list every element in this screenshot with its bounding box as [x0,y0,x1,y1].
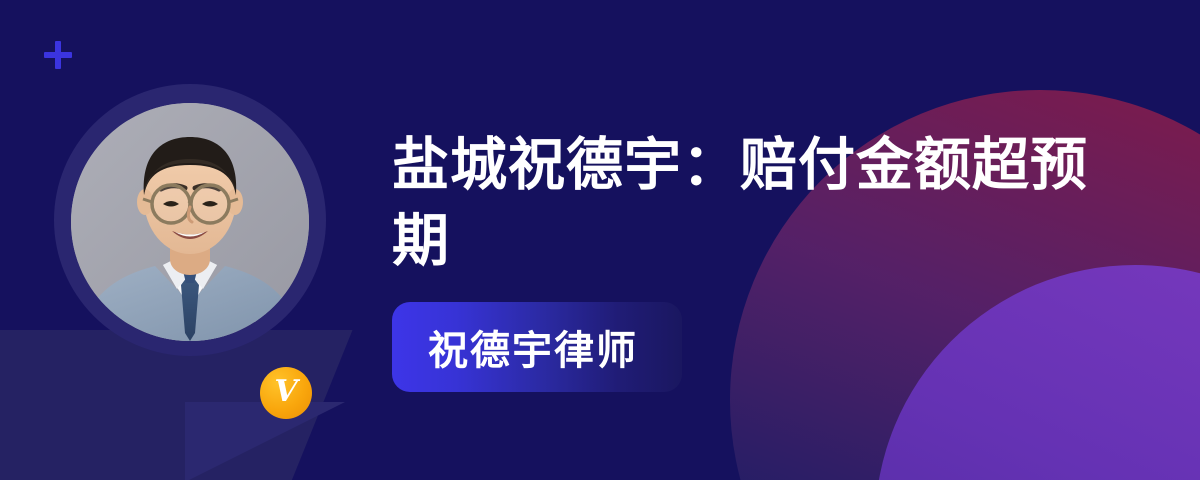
promo-poster: V 盐城祝德宇：赔付金额超预期 祝德宇律师 [0,0,1200,480]
avatar-photo [71,103,309,341]
avatar: V [54,84,326,356]
decor-triangle-wedge [185,402,345,480]
content-column: 盐城祝德宇：赔付金额超预期 祝德宇律师 [392,128,1092,392]
page-title: 盐城祝德宇：赔付金额超预期 [392,128,1092,280]
verified-badge-glyph: V [274,377,297,407]
plus-icon [44,41,72,69]
verified-badge-icon: V [260,367,312,419]
lawyer-name-button[interactable]: 祝德宇律师 [392,302,682,392]
